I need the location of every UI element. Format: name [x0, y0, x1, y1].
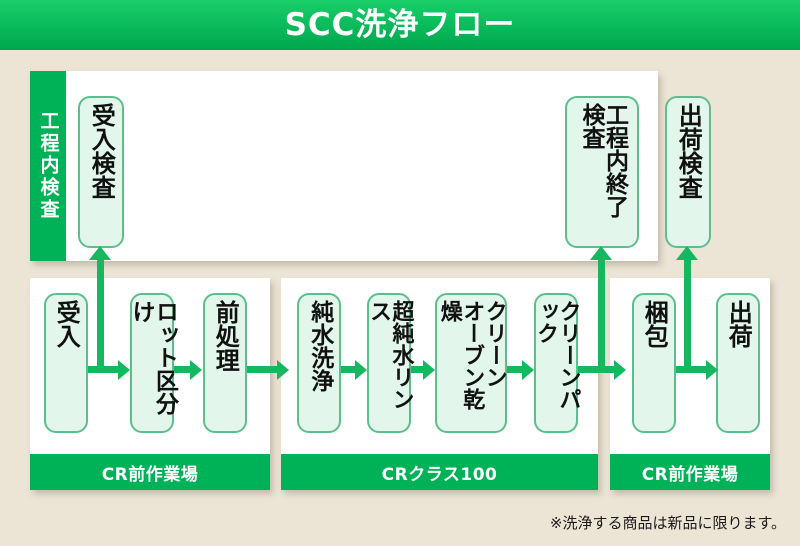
arrowhead-to-incoming-inspection [89, 246, 111, 260]
step-box-pretreatment[interactable]: 前処理 [203, 293, 247, 433]
step-box-pure-water-wash-label: 純水洗浄 [307, 300, 330, 426]
box-process-end-inspection[interactable]: 工程内終了 検査 [565, 96, 639, 248]
box-incoming-inspection[interactable]: 受入検査 [78, 96, 124, 248]
connector-branch-to-incoming-inspection [97, 256, 104, 370]
arrowhead-pure-water-to-rinse [355, 360, 367, 380]
connector-branch-to-shipping-inspection [684, 256, 691, 370]
box-shipping-inspection-label: 出荷検査 [676, 103, 700, 241]
footnote: ※洗浄する商品は新品に限ります。 [550, 512, 786, 533]
step-box-lot-sorting[interactable]: ロット区分け [130, 293, 174, 433]
inspection-side-label: 工程内検査 [30, 71, 66, 261]
step-box-clean-pack-label: クリーンパック [534, 300, 579, 426]
arrowhead-lot-to-pretreatment [190, 360, 202, 380]
step-box-receive[interactable]: 受入 [44, 293, 88, 433]
arrowhead-packing-to-shipping [706, 360, 718, 380]
step-box-ultrapure-rinse[interactable]: 超純水リンス [367, 293, 411, 433]
step-box-ultrapure-rinse-label: 超純水リンス [367, 300, 412, 426]
arrowhead-to-shipping-inspection [676, 246, 698, 260]
connector-receive-to-lot [88, 366, 120, 373]
step-box-packing-label: 梱包 [642, 300, 666, 426]
step-box-pure-water-wash[interactable]: 純水洗浄 [297, 293, 341, 433]
arrowhead-pretreatment-to-pure-water [277, 360, 289, 380]
connector-branch-to-process-end-inspection [598, 256, 605, 370]
diagram-root: SCC洗浄フロー 工程内検査 受入検査 工程内終了 検査 出荷検査 CR前作業場… [0, 0, 800, 546]
arrowhead-oven-to-clean-pack [522, 360, 534, 380]
group-footer-cr-class-100: CRクラス100 [281, 454, 598, 490]
box-process-end-inspection-col1: 工程内終了 [602, 103, 625, 241]
step-box-clean-pack[interactable]: クリーンパック [534, 293, 578, 433]
step-box-packing[interactable]: 梱包 [632, 293, 676, 433]
connector-pretreatment-to-pure-water [247, 366, 279, 373]
step-box-clean-oven-dry[interactable]: クリーン オーブン乾燥 [435, 293, 507, 433]
step-box-clean-oven-dry-col1: クリーン [482, 300, 504, 426]
title-bar: SCC洗浄フロー [0, 0, 800, 50]
step-box-shipping[interactable]: 出荷 [716, 293, 760, 433]
arrowhead-clean-pack-to-packing [614, 360, 626, 380]
page-title: SCC洗浄フロー [285, 10, 516, 41]
box-incoming-inspection-label: 受入検査 [89, 103, 113, 241]
box-shipping-inspection[interactable]: 出荷検査 [665, 96, 711, 248]
step-box-pretreatment-label: 前処理 [213, 300, 237, 426]
step-box-shipping-label: 出荷 [726, 300, 750, 426]
arrowhead-to-process-end-inspection [590, 246, 612, 260]
box-process-end-inspection-col2: 検査 [579, 103, 602, 241]
inspection-side-label-text: 工程内検査 [39, 111, 58, 221]
step-box-receive-label: 受入 [54, 300, 78, 426]
group-footer-pre-cr-2: CR前作業場 [610, 454, 770, 490]
step-box-clean-oven-dry-col2: オーブン乾燥 [437, 300, 482, 426]
connector-packing-to-shipping [676, 366, 708, 373]
arrowhead-rinse-to-oven [423, 360, 435, 380]
inspection-panel [30, 71, 658, 261]
step-box-lot-sorting-label: ロット区分け [129, 300, 176, 426]
group-footer-pre-cr-1: CR前作業場 [30, 454, 270, 490]
arrowhead-receive-to-lot [118, 360, 130, 380]
